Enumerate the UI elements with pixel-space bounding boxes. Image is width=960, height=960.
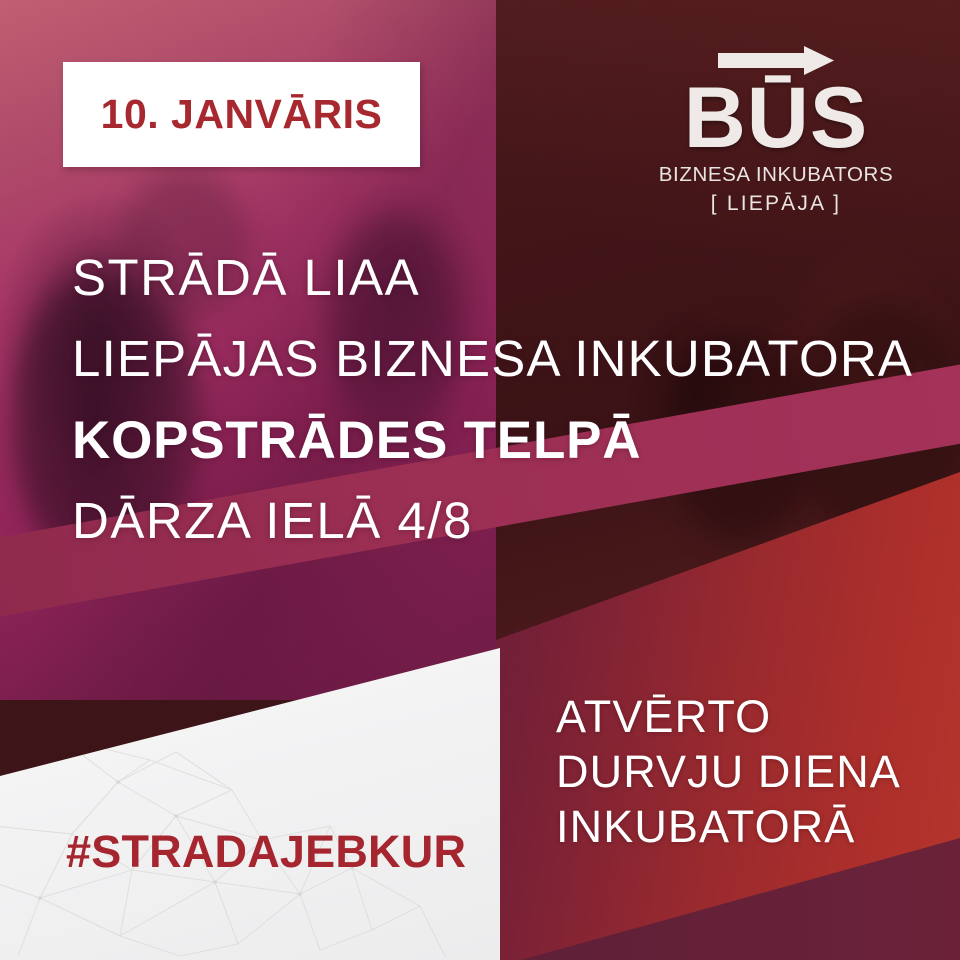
event-text-line-3: INKUBATORĀ [556, 800, 956, 855]
event-poster: 10. JANVĀRIS BŪS BIZNESA INKUBATORS [ LI… [0, 0, 960, 960]
logo-wordmark: BŪS [636, 79, 916, 158]
event-text-line-2: DURVJU DIENA [556, 745, 956, 800]
headline-line-3: KOPSTRĀDES TELPĀ [72, 414, 912, 467]
logo-subtitle: BIZNESA INKUBATORS [636, 163, 916, 187]
logo-location: [ LIEPĀJA ] [636, 192, 916, 216]
headline-line-4: DĀRZA IELĀ 4/8 [72, 495, 912, 546]
event-text-block: ATVĒRTO DURVJU DIENA INKUBATORĀ [556, 690, 956, 855]
headline-line-1: STRĀDĀ LIAA [72, 252, 912, 303]
event-text-line-1: ATVĒRTO [556, 690, 956, 745]
bus-logo: BŪS BIZNESA INKUBATORS [ LIEPĀJA ] [636, 44, 916, 216]
date-badge-label: 10. JANVĀRIS [101, 91, 383, 138]
headline-block: STRĀDĀ LIAA LIEPĀJAS BIZNESA INKUBATORA … [72, 252, 912, 546]
date-badge: 10. JANVĀRIS [63, 62, 420, 167]
hashtag-label: #STRADAJEBKUR [66, 826, 466, 878]
headline-line-2: LIEPĀJAS BIZNESA INKUBATORA [72, 333, 912, 384]
